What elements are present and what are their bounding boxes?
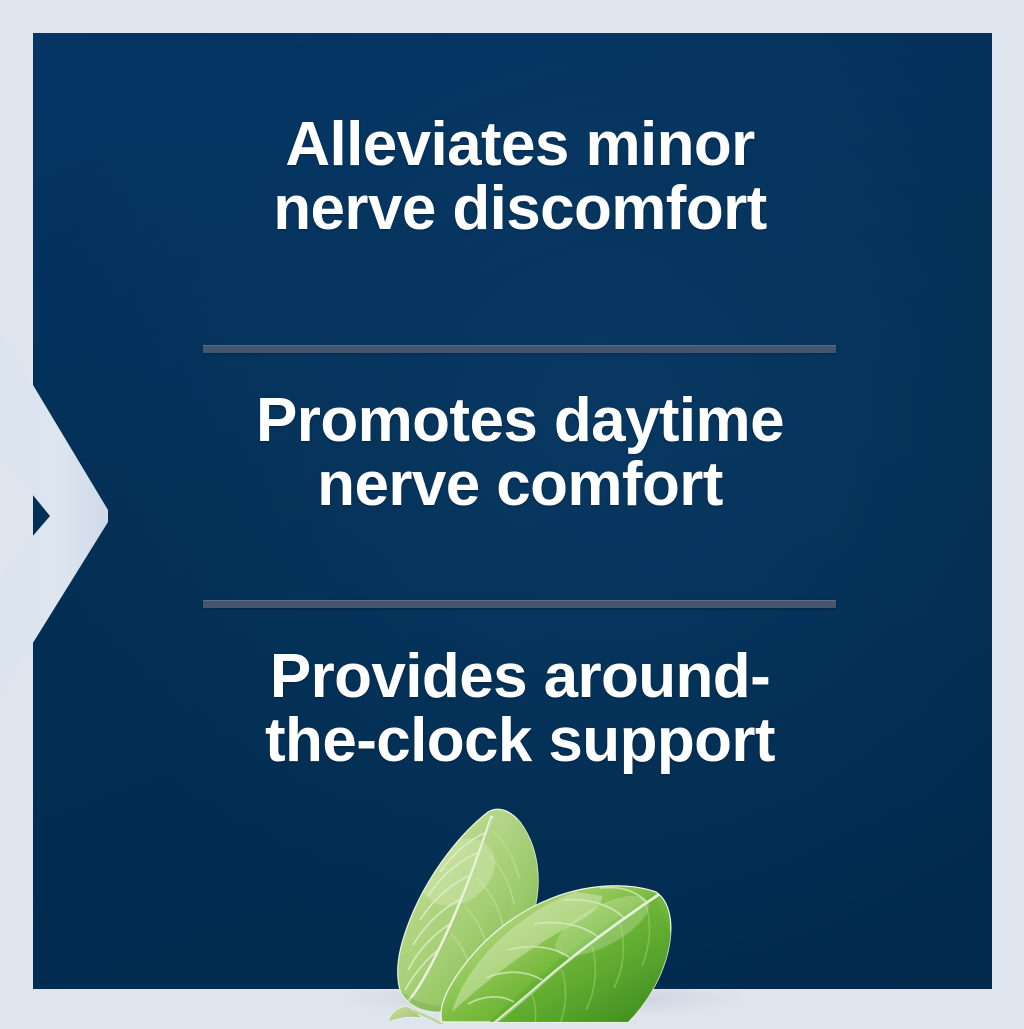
benefit-item-3-line-2: the-clock support: [170, 709, 870, 773]
benefit-item-3-line-1: Provides around-: [170, 645, 870, 709]
benefit-divider-1: [203, 345, 836, 353]
benefit-item-2: Promotes daytime nerve comfort: [170, 389, 870, 517]
benefit-item-2-line-1: Promotes daytime: [170, 389, 870, 453]
benefit-item-1-line-1: Alleviates minor: [170, 113, 870, 177]
chevron-right-icon: [0, 330, 112, 696]
benefit-item-1: Alleviates minor nerve discomfort: [170, 113, 870, 241]
benefit-item-2-line-2: nerve comfort: [170, 453, 870, 517]
benefit-divider-2: [203, 600, 836, 608]
page-canvas: Alleviates minor nerve discomfort Promot…: [0, 0, 1024, 1024]
green-leaves-icon: [388, 800, 688, 1024]
benefit-item-1-line-2: nerve discomfort: [170, 177, 870, 241]
benefit-item-3: Provides around- the-clock support: [170, 645, 870, 773]
